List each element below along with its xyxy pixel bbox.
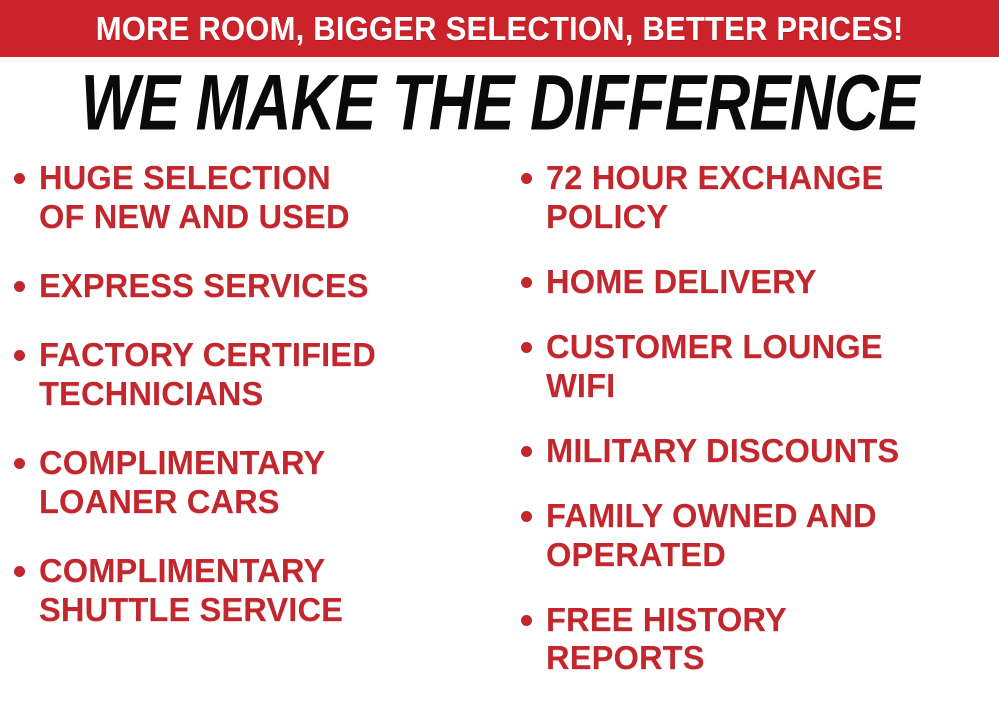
list-item: FREE HISTORY REPORTS [521, 601, 999, 679]
feature-label: HUGE SELECTION OF NEW AND USED [39, 159, 350, 237]
page-title: WE MAKE THE DIFFERENCE [81, 64, 919, 142]
bullet-dot-icon [521, 173, 532, 184]
list-item: HUGE SELECTION OF NEW AND USED [14, 159, 505, 237]
features-right-column: 72 HOUR EXCHANGE POLICY HOME DELIVERY CU… [505, 159, 999, 704]
bullet-dot-icon [14, 350, 25, 361]
bullet-dot-icon [14, 281, 25, 292]
list-item: 72 HOUR EXCHANGE POLICY [521, 159, 999, 237]
feature-label: COMPLIMENTARY LOANER CARS [39, 444, 325, 522]
feature-label: EXPRESS SERVICES [39, 267, 369, 306]
feature-label: HOME DELIVERY [546, 263, 817, 302]
bullet-dot-icon [521, 615, 532, 626]
feature-label: COMPLIMENTARY SHUTTLE SERVICE [39, 552, 343, 630]
promo-banner: MORE ROOM, BIGGER SELECTION, BETTER PRIC… [0, 0, 999, 57]
list-item: COMPLIMENTARY SHUTTLE SERVICE [14, 552, 505, 630]
feature-label: FREE HISTORY REPORTS [546, 601, 787, 679]
bullet-dot-icon [521, 446, 532, 457]
list-item: HOME DELIVERY [521, 263, 999, 302]
list-item: COMPLIMENTARY LOANER CARS [14, 444, 505, 522]
bullet-dot-icon [521, 277, 532, 288]
feature-label: MILITARY DISCOUNTS [546, 432, 899, 471]
bullet-dot-icon [521, 511, 532, 522]
bullet-dot-icon [521, 342, 532, 353]
feature-label: CUSTOMER LOUNGE WIFI [546, 328, 883, 406]
bullet-dot-icon [14, 173, 25, 184]
bullet-dot-icon [14, 566, 25, 577]
list-item: CUSTOMER LOUNGE WIFI [521, 328, 999, 406]
feature-label: FACTORY CERTIFIED TECHNICIANS [39, 336, 376, 414]
bullet-dot-icon [14, 458, 25, 469]
list-item: MILITARY DISCOUNTS [521, 432, 999, 471]
promo-banner-text: MORE ROOM, BIGGER SELECTION, BETTER PRIC… [96, 12, 904, 45]
headline-section: WE MAKE THE DIFFERENCE [0, 57, 999, 149]
list-item: FAMILY OWNED AND OPERATED [521, 497, 999, 575]
features-section: HUGE SELECTION OF NEW AND USED EXPRESS S… [0, 149, 999, 704]
list-item: FACTORY CERTIFIED TECHNICIANS [14, 336, 505, 414]
features-left-column: HUGE SELECTION OF NEW AND USED EXPRESS S… [0, 159, 505, 659]
feature-label: FAMILY OWNED AND OPERATED [546, 497, 877, 575]
list-item: EXPRESS SERVICES [14, 267, 505, 306]
feature-label: 72 HOUR EXCHANGE POLICY [546, 159, 883, 237]
